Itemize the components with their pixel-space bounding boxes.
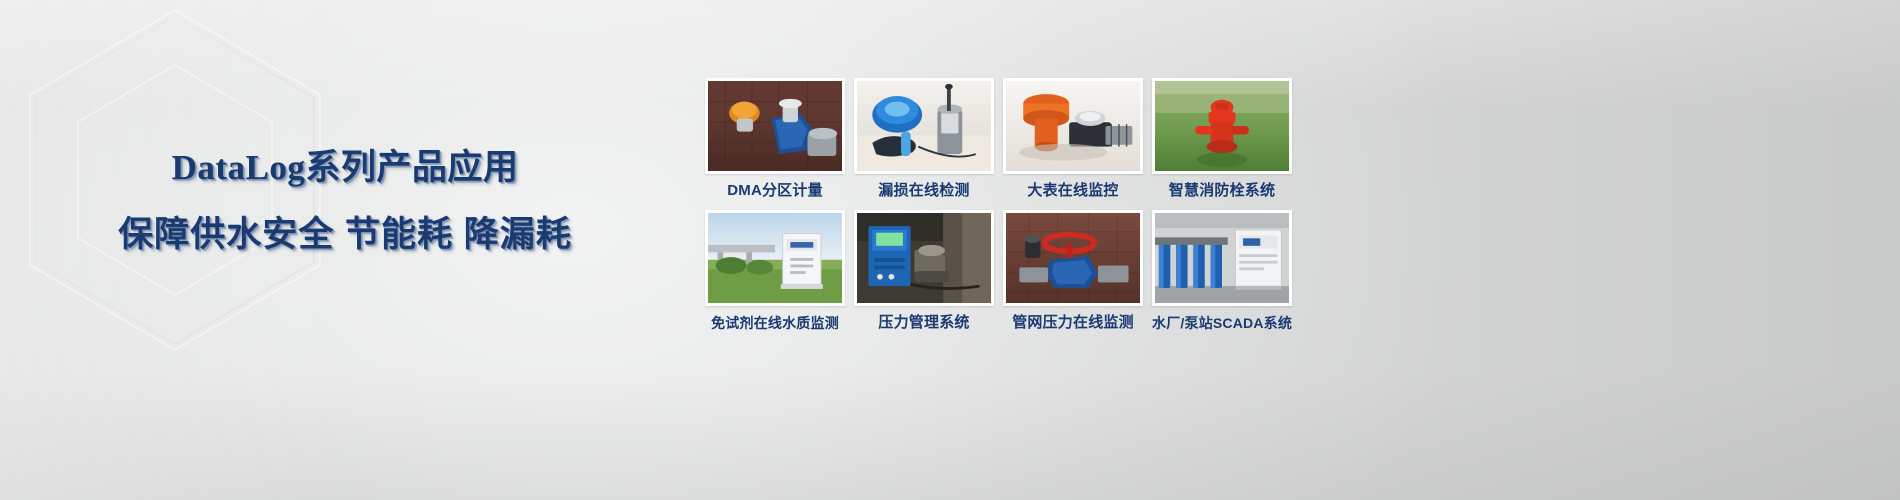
product-card-label: 压力管理系统 <box>854 313 994 333</box>
product-card-label: 大表在线监控 <box>1003 181 1143 201</box>
water-quality-station-thumbnail[interactable] <box>705 210 845 306</box>
headline-secondary: 保障供水安全 节能耗 降漏耗 <box>0 214 690 256</box>
product-card-pressure-management[interactable]: 压力管理系统 <box>854 210 994 333</box>
product-application-banner: DataLog系列产品应用 保障供水安全 节能耗 降漏耗 <box>0 0 1900 500</box>
product-card-row: DMA分区计量 <box>705 78 1285 201</box>
product-card-grid: DMA分区计量 <box>705 78 1285 342</box>
product-card-dma[interactable]: DMA分区计量 <box>705 78 845 201</box>
dma-flow-meter-thumbnail[interactable] <box>705 78 845 174</box>
product-card-large-meter[interactable]: 大表在线监控 <box>1003 78 1143 201</box>
smart-fire-hydrant-thumbnail[interactable] <box>1152 78 1292 174</box>
banner-headline: DataLog系列产品应用 保障供水安全 节能耗 降漏耗 <box>0 148 690 256</box>
pipe-network-pressure-thumbnail[interactable] <box>1003 210 1143 306</box>
product-card-pipe-pressure[interactable]: 管网压力在线监测 <box>1003 210 1143 333</box>
product-card-leak-detection[interactable]: 漏损在线检测 <box>854 78 994 201</box>
product-card-label: 漏损在线检测 <box>854 181 994 201</box>
product-card-label: 免试剂在线水质监测 <box>705 313 845 333</box>
product-card-water-quality[interactable]: 免试剂在线水质监测 <box>705 210 845 333</box>
headline-primary: DataLog系列产品应用 <box>0 148 690 188</box>
product-card-label: 水厂/泵站SCADA系统 <box>1152 313 1292 333</box>
leak-detection-sensor-thumbnail[interactable] <box>854 78 994 174</box>
product-card-label: DMA分区计量 <box>705 181 845 201</box>
large-meter-monitor-thumbnail[interactable] <box>1003 78 1143 174</box>
product-card-row: 免试剂在线水质监测 <box>705 210 1285 333</box>
product-card-fire-hydrant[interactable]: 智慧消防栓系统 <box>1152 78 1292 201</box>
scada-cabinet-thumbnail[interactable] <box>1152 210 1292 306</box>
product-card-label: 管网压力在线监测 <box>1003 313 1143 333</box>
product-card-label: 智慧消防栓系统 <box>1152 181 1292 201</box>
product-card-scada[interactable]: 水厂/泵站SCADA系统 <box>1152 210 1292 333</box>
pressure-management-cabinet-thumbnail[interactable] <box>854 210 994 306</box>
